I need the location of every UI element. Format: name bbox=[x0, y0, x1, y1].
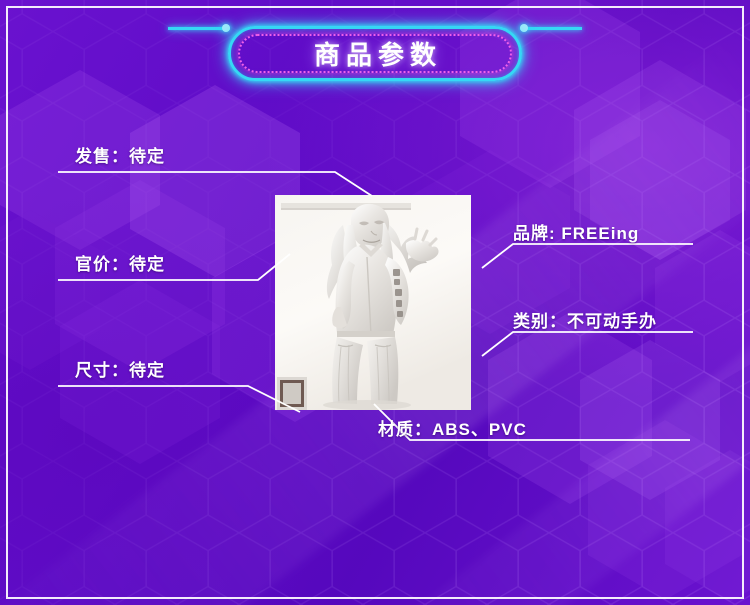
spec-price: 官价：待定 bbox=[75, 250, 165, 275]
product-photo bbox=[275, 195, 471, 410]
banner-tail-left bbox=[168, 27, 230, 30]
spec-category: 类别：不可动手办 bbox=[513, 307, 657, 332]
hexagon-accent-far-right bbox=[580, 90, 750, 605]
page-background: 商品参数 发售：待定 官价：待定 尺寸：待定 品牌: FREEing 类别：不可… bbox=[0, 0, 750, 605]
banner-tail-right bbox=[520, 27, 582, 30]
title-banner: 商品参数 bbox=[228, 26, 522, 81]
spec-material: 材质：ABS、PVC bbox=[378, 415, 527, 440]
page-title: 商品参数 bbox=[228, 26, 522, 81]
hexagon-accent-left bbox=[0, 60, 290, 390]
spec-size: 尺寸：待定 bbox=[75, 356, 165, 381]
spec-brand: 品牌: FREEing bbox=[513, 219, 639, 244]
hexagon-accent-right-bottom bbox=[470, 300, 750, 605]
spec-release: 发售：待定 bbox=[75, 142, 165, 167]
